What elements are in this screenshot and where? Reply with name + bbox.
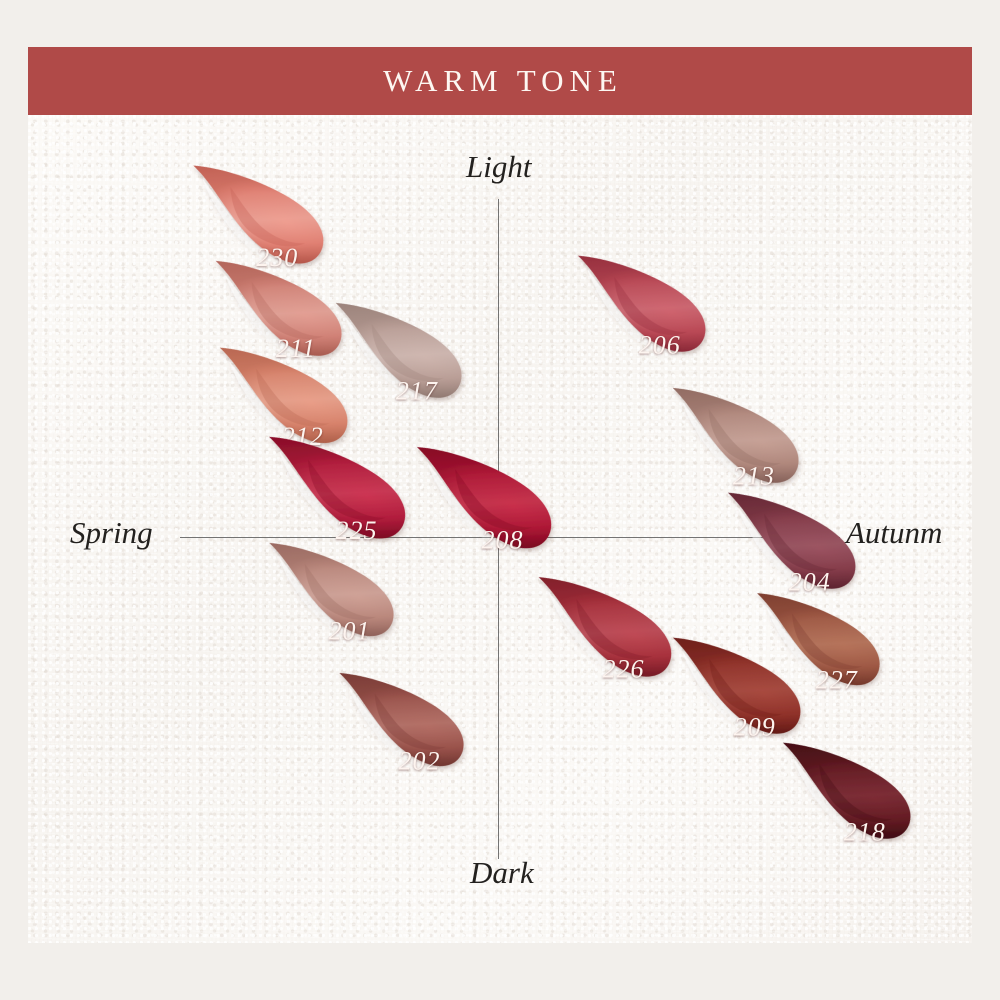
swatch-shape: [310, 664, 479, 795]
shade-swatch[interactable]: 218: [752, 734, 925, 869]
swatch-shape: [547, 247, 720, 382]
page-title: WARM TONE: [377, 63, 623, 99]
shade-swatch[interactable]: 206: [547, 247, 720, 382]
poster-root: WARM TONE Light Dark Spring Autunm 23021…: [0, 0, 1000, 1000]
header-band: WARM TONE: [28, 47, 972, 115]
axis-label-dark: Dark: [470, 855, 534, 891]
swatch-shape: [752, 734, 925, 869]
chart-canvas: Light Dark Spring Autunm 230211217212225…: [28, 115, 972, 943]
shade-swatch[interactable]: 208: [385, 438, 567, 581]
swatch-shape: [385, 438, 567, 581]
shade-swatch[interactable]: 202: [310, 664, 479, 795]
axis-label-light: Light: [466, 149, 531, 185]
axis-label-spring: Spring: [70, 515, 153, 551]
